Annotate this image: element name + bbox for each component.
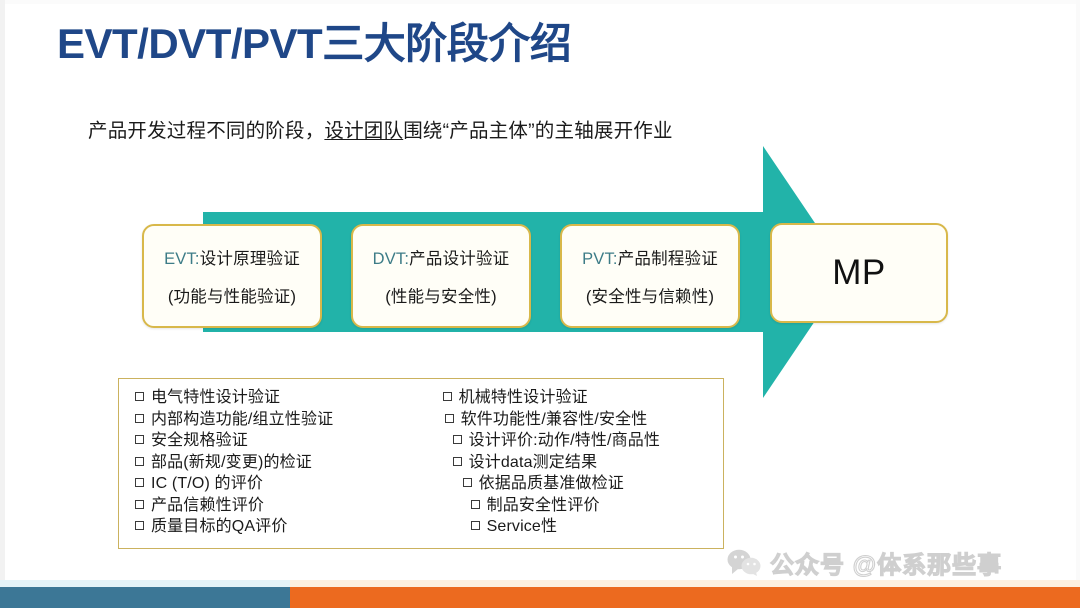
checkbox-square-icon xyxy=(135,435,144,444)
checklist-column-left: 电气特性设计验证内部构造功能/组立性验证安全规格验证部品(新规/变更)的检证IC… xyxy=(119,379,433,548)
stage-box-evt[interactable]: EVT:设计原理验证 (功能与性能验证) xyxy=(142,224,322,328)
checkbox-square-icon xyxy=(445,414,454,423)
checklist-left-item-label: 安全规格验证 xyxy=(151,432,248,449)
checkbox-square-icon xyxy=(135,521,144,530)
checkbox-square-icon xyxy=(463,478,472,487)
subtitle-part-2: 围绕“产品主体”的主轴展开作业 xyxy=(403,120,673,142)
stage-dvt-tag: DVT: xyxy=(373,250,410,268)
footer-bar-pale-orange xyxy=(290,580,1080,587)
stage-pvt-name: 产品制程验证 xyxy=(618,250,718,268)
checklist-left-item-label: 内部构造功能/组立性验证 xyxy=(151,411,333,428)
footer-bar-pale-blue xyxy=(0,580,290,587)
checklist-right-item: 制品安全性评价 xyxy=(471,495,723,517)
stage-evt-title: EVT:设计原理验证 xyxy=(164,245,300,269)
checklist-left-item: IC (T/O) 的评价 xyxy=(135,473,433,495)
checklist-right-item-label: 制品安全性评价 xyxy=(487,497,600,514)
checklist-left-item-label: 电气特性设计验证 xyxy=(151,389,280,406)
stage-box-mp[interactable]: MP xyxy=(770,223,948,323)
checkbox-square-icon xyxy=(135,500,144,509)
stage-box-pvt[interactable]: PVT:产品制程验证 (安全性与信赖性) xyxy=(560,224,740,328)
checklist-left-item-label: 部品(新规/变更)的检证 xyxy=(151,454,312,471)
checklist-left-item: 安全规格验证 xyxy=(135,430,433,452)
stage-evt-detail: (功能与性能验证) xyxy=(168,283,296,307)
slide-top-edge xyxy=(0,0,1080,4)
slide-left-edge xyxy=(0,0,5,580)
checklist-right-item: 机械特性设计验证 xyxy=(443,387,723,409)
checklist-left-item: 内部构造功能/组立性验证 xyxy=(135,409,433,431)
slide-right-edge xyxy=(1076,0,1080,580)
watermark: 公众号 @体系那些事 xyxy=(727,545,1002,580)
checklist-right-item: 设计data测定结果 xyxy=(453,452,723,474)
stage-dvt-name: 产品设计验证 xyxy=(409,250,509,268)
stage-box-dvt[interactable]: DVT:产品设计验证 (性能与安全性) xyxy=(351,224,531,328)
checklist-right-item: 软件功能性/兼容性/安全性 xyxy=(445,409,723,431)
checklist-right-item-label: 依据品质基准做检证 xyxy=(479,475,624,492)
stage-pvt-tag: PVT: xyxy=(582,250,618,268)
watermark-text: 公众号 @体系那些事 xyxy=(770,545,1002,580)
checkbox-square-icon xyxy=(135,392,144,401)
stage-evt-name: 设计原理验证 xyxy=(200,250,300,268)
subtitle-underlined-part: 设计团队 xyxy=(324,120,403,142)
checklist-right-item-label: 机械特性设计验证 xyxy=(459,389,588,406)
wechat-icon xyxy=(727,549,761,576)
stage-pvt-detail: (安全性与信赖性) xyxy=(586,283,714,307)
checklist-left-item-label: IC (T/O) 的评价 xyxy=(151,475,263,492)
checklist-left-item-label: 质量目标的QA评价 xyxy=(151,518,287,535)
checklist-left-item: 质量目标的QA评价 xyxy=(135,516,433,538)
slide-canvas: EVT/DVT/PVT三大阶段介绍 产品开发过程不同的阶段，设计团队围绕“产品主… xyxy=(0,0,1080,608)
checkbox-square-icon xyxy=(135,414,144,423)
checklist-right-item-label: 设计data测定结果 xyxy=(469,454,598,471)
subtitle-part-1: 产品开发过程不同的阶段， xyxy=(88,120,324,142)
checklist-right-item-label: 软件功能性/兼容性/安全性 xyxy=(461,411,648,428)
page-title: EVT/DVT/PVT三大阶段介绍 xyxy=(57,20,571,68)
checklist-right-item-label: Service性 xyxy=(487,518,558,535)
checkbox-square-icon xyxy=(135,478,144,487)
page-subtitle: 产品开发过程不同的阶段，设计团队围绕“产品主体”的主轴展开作业 xyxy=(88,114,673,143)
checkbox-square-icon xyxy=(443,392,452,401)
checklist-right-item: 依据品质基准做检证 xyxy=(463,473,723,495)
checkbox-square-icon xyxy=(135,457,144,466)
checkbox-square-icon xyxy=(453,435,462,444)
stage-pvt-title: PVT:产品制程验证 xyxy=(582,245,718,269)
stage-dvt-detail: (性能与安全性) xyxy=(385,283,497,307)
checklist-right-item: Service性 xyxy=(471,516,723,538)
footer-bar-blue xyxy=(0,587,290,608)
checklist-right-item-label: 设计评价:动作/特性/商品性 xyxy=(469,432,660,449)
stage-mp-label: MP xyxy=(832,253,886,293)
checklist-right-item: 设计评价:动作/特性/商品性 xyxy=(453,430,723,452)
checkbox-square-icon xyxy=(471,521,480,530)
checkbox-square-icon xyxy=(471,500,480,509)
checklist-left-item: 电气特性设计验证 xyxy=(135,387,433,409)
checklist-left-item-label: 产品信赖性评价 xyxy=(151,497,264,514)
checkbox-square-icon xyxy=(453,457,462,466)
checklist-panel: 电气特性设计验证内部构造功能/组立性验证安全规格验证部品(新规/变更)的检证IC… xyxy=(118,378,724,549)
checklist-left-item: 产品信赖性评价 xyxy=(135,495,433,517)
footer-bar-orange xyxy=(290,587,1080,608)
checklist-column-right: 机械特性设计验证软件功能性/兼容性/安全性设计评价:动作/特性/商品性设计dat… xyxy=(433,379,723,548)
stage-dvt-title: DVT:产品设计验证 xyxy=(373,245,510,269)
stage-evt-tag: EVT: xyxy=(164,250,200,268)
checklist-left-item: 部品(新规/变更)的检证 xyxy=(135,452,433,474)
